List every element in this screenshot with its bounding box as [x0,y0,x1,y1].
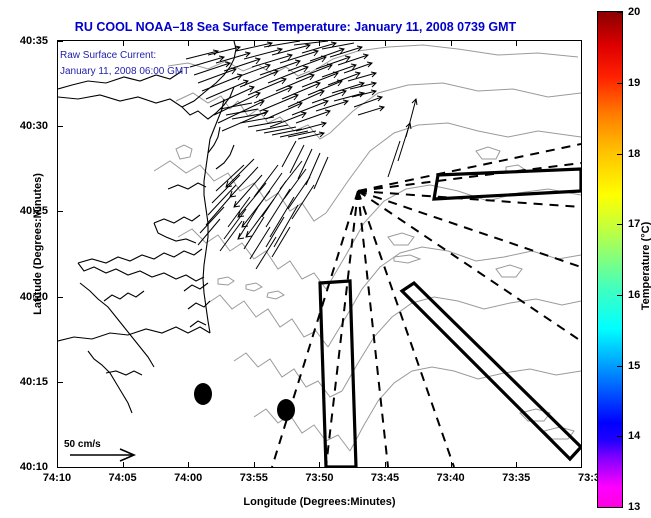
y-axis-label: Latitude (Degrees:Minutes) [32,114,44,374]
x-tick-top [254,40,255,46]
colorbar-tick-label: 17 [628,218,640,230]
x-tick-top [188,40,189,46]
x-tick [254,462,255,468]
station-marker[interactable] [277,399,295,421]
x-tick-label: 74:00 [158,472,218,484]
colorbar-tick [617,224,622,225]
y-tick [57,41,63,42]
coastline [58,41,236,413]
y-tick-label: 40:30 [0,120,48,132]
x-tick-label: 73:45 [355,472,415,484]
x-tick [516,462,517,468]
survey-track-boxes[interactable] [320,169,581,467]
colorbar-tick [617,507,622,508]
y-tick [57,126,63,127]
y-tick-label: 40:20 [0,291,48,303]
station-marker[interactable] [194,383,212,405]
current-vector-field [186,41,417,269]
scale-arrow-icon [70,449,134,461]
x-axis-label: Longitude (Degrees:Minutes) [57,496,582,508]
colorbar-tick [617,436,622,437]
x-tick-top [451,40,452,46]
sst-map-figure: RU COOL NOAA–18 Sea Surface Temperature:… [0,0,651,518]
x-tick-top [123,40,124,46]
x-tick-top [516,40,517,46]
x-tick-label: 74:10 [27,472,87,484]
y-tick-label: 40:35 [0,35,48,47]
annotation-line-1: Raw Surface Current: [60,50,156,61]
annotation-line-2: January 11, 2008 06:00 GMT [60,66,189,77]
x-tick-top [385,40,386,46]
x-tick [123,462,124,468]
colorbar-tick [617,12,622,13]
colorbar-tick-label: 16 [628,289,640,301]
x-tick [385,462,386,468]
x-tick [451,462,452,468]
page-title: RU COOL NOAA–18 Sea Surface Temperature:… [0,20,591,34]
colorbar-tick-label: 20 [628,6,640,18]
x-tick-label: 73:35 [486,472,546,484]
temperature-colorbar[interactable] [597,11,623,508]
colorbar-tick [617,295,622,296]
x-tick-top [319,40,320,46]
sst-contour-lines [154,45,581,451]
x-tick-label: 73:55 [224,472,284,484]
y-tick [57,382,63,383]
map-plot-area[interactable] [57,40,582,468]
colorbar-tick-label: 19 [628,77,640,89]
y-tick [57,467,63,468]
x-tick-label: 73:50 [289,472,349,484]
y-tick [57,211,63,212]
x-tick-label: 74:05 [93,472,153,484]
colorbar-tick-label: 18 [628,148,640,160]
colorbar-tick [617,154,622,155]
colorbar-tick-label: 14 [628,430,640,442]
colorbar-axis-label: Temperature (°C) [640,176,651,356]
colorbar-tick-label: 13 [628,501,640,513]
map-canvas [58,41,581,467]
x-tick [188,462,189,468]
colorbar-tick-label: 15 [628,360,640,372]
colorbar-tick [617,366,622,367]
scalebar-label: 50 cm/s [64,439,101,450]
station-markers[interactable] [194,383,295,421]
colorbar-tick [617,83,622,84]
y-tick [57,297,63,298]
x-tick [319,462,320,468]
y-tick-label: 40:15 [0,376,48,388]
y-tick-label: 40:25 [0,205,48,217]
x-tick-label: 73:40 [421,472,481,484]
